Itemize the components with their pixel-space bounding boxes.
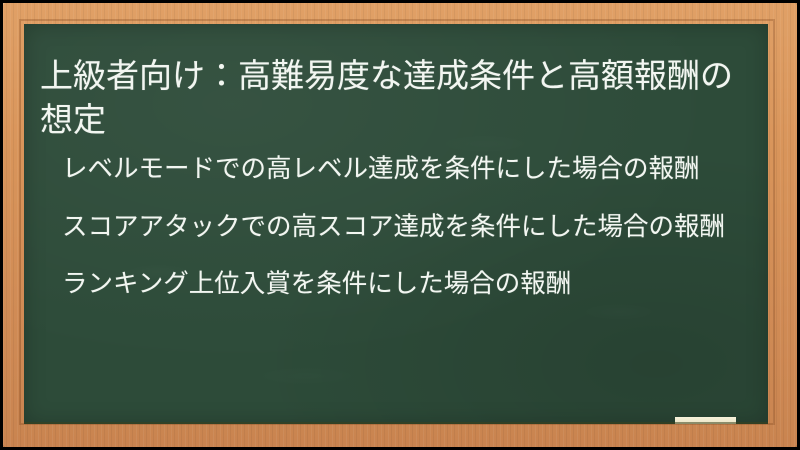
slide-stage: 上級者向け：高難易度な達成条件と高額報酬の想定 レベルモードでの高レベル達成を条…	[0, 0, 800, 450]
slide-title: 上級者向け：高難易度な達成条件と高額報酬の想定	[40, 54, 752, 142]
slide-content: 上級者向け：高難易度な達成条件と高額報酬の想定 レベルモードでの高レベル達成を条…	[24, 24, 768, 424]
board-bottom-seam	[24, 422, 768, 424]
bullet-list: レベルモードでの高レベル達成を条件にした場合の報酬 スコアアタックでの高スコア達…	[62, 152, 752, 302]
bullet-item: ランキング上位入賞を条件にした場合の報酬	[62, 267, 752, 302]
bullet-item: スコアアタックでの高スコア達成を条件にした場合の報酬	[62, 210, 752, 245]
chalkboard-surface: 上級者向け：高難易度な達成条件と高額報酬の想定 レベルモードでの高レベル達成を条…	[24, 24, 768, 424]
bullet-item: レベルモードでの高レベル達成を条件にした場合の報酬	[62, 152, 752, 187]
